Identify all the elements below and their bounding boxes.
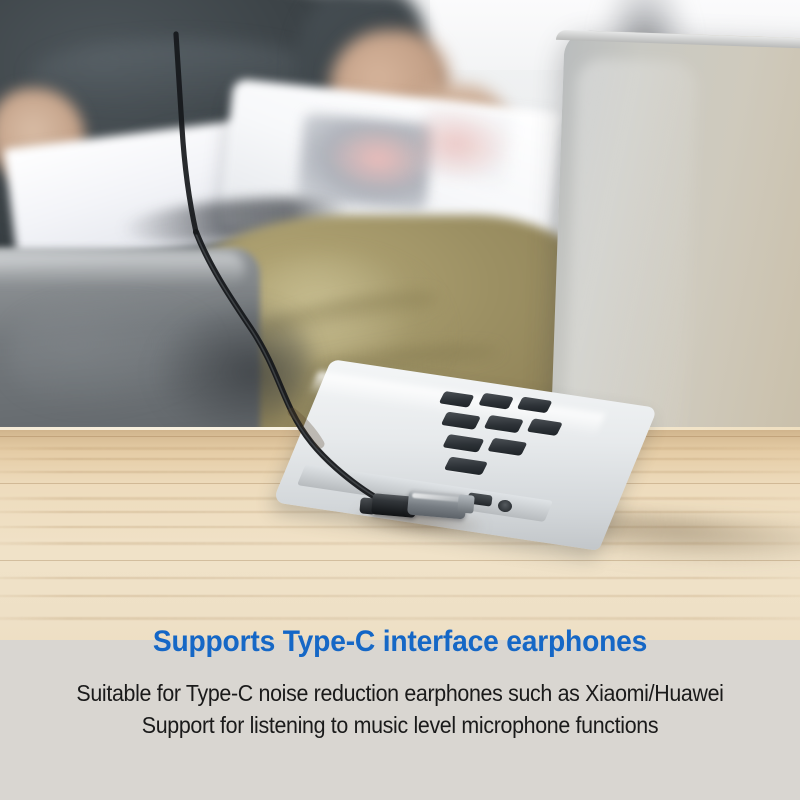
product-banner: Supports Type-C interface earphones Suit… [0,0,800,800]
keyboard-key [441,412,481,430]
keyboard-key [478,393,514,410]
keyboard-key [527,418,563,436]
magazine-photo [296,113,433,212]
keyboard-key [444,457,488,476]
sofa-highlight [0,252,245,286]
wood-grain [0,577,800,579]
headline: Supports Type-C interface earphones [24,625,776,659]
wood-grain [0,595,800,597]
product-photo [0,0,800,640]
subtitle-line-2: Support for listening to music level mic… [28,712,772,739]
keyboard-key [439,391,475,408]
adapter-type-c-connector [457,494,475,513]
keyboard-key [487,438,527,456]
subtitle-line-1: Suitable for Type-C noise reduction earp… [28,680,772,707]
magazine-photo [416,105,514,185]
keyboard-key [442,434,484,452]
sofa-shadow [150,300,310,430]
wood-grain [0,617,800,620]
keyboard-key [484,415,524,433]
